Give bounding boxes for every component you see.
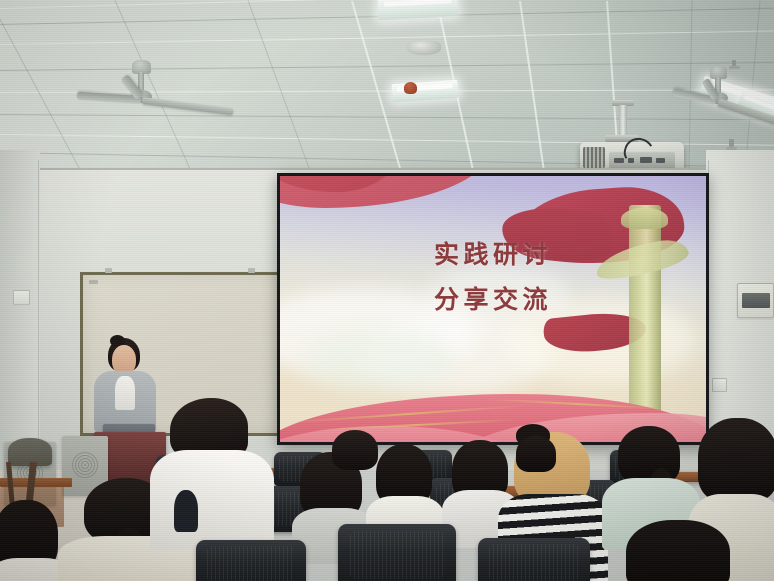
smoke-detector-icon [407, 41, 441, 55]
presenter-inner-shirt [115, 376, 135, 410]
presentation-slide: 实践研讨 分享交流 [280, 176, 706, 442]
shirt-graphic-print [174, 490, 198, 532]
slide-title-line-1: 实践研讨 [280, 235, 706, 271]
audience-member [516, 436, 558, 474]
audience-member [626, 520, 746, 581]
light-switch-plate[interactable] [13, 290, 30, 305]
ceiling-fan-icon [100, 60, 230, 120]
ceiling-fan-icon [682, 66, 774, 126]
projection-screen: 实践研讨 分享交流 [277, 173, 709, 445]
wall-corner-seam [38, 160, 39, 480]
left-wall [0, 150, 40, 480]
sprinkler-head-icon [729, 139, 734, 147]
ceiling [0, 0, 774, 178]
fire-alarm-icon [404, 82, 417, 94]
wall-control-panel[interactable] [737, 283, 774, 318]
huabiao-cap-decor [621, 208, 668, 229]
slide-title-line-2: 分享交流 [280, 280, 706, 316]
outlet-plate[interactable] [712, 378, 727, 392]
projector-icon [578, 100, 688, 178]
audience-member [332, 430, 382, 474]
chair [478, 538, 590, 581]
presenter [95, 338, 157, 438]
audience-member [152, 398, 274, 548]
chair [338, 524, 456, 581]
classroom-photo: 实践研讨 分享交流 [0, 0, 774, 581]
chair [196, 540, 306, 581]
cloud-haze [301, 330, 454, 394]
